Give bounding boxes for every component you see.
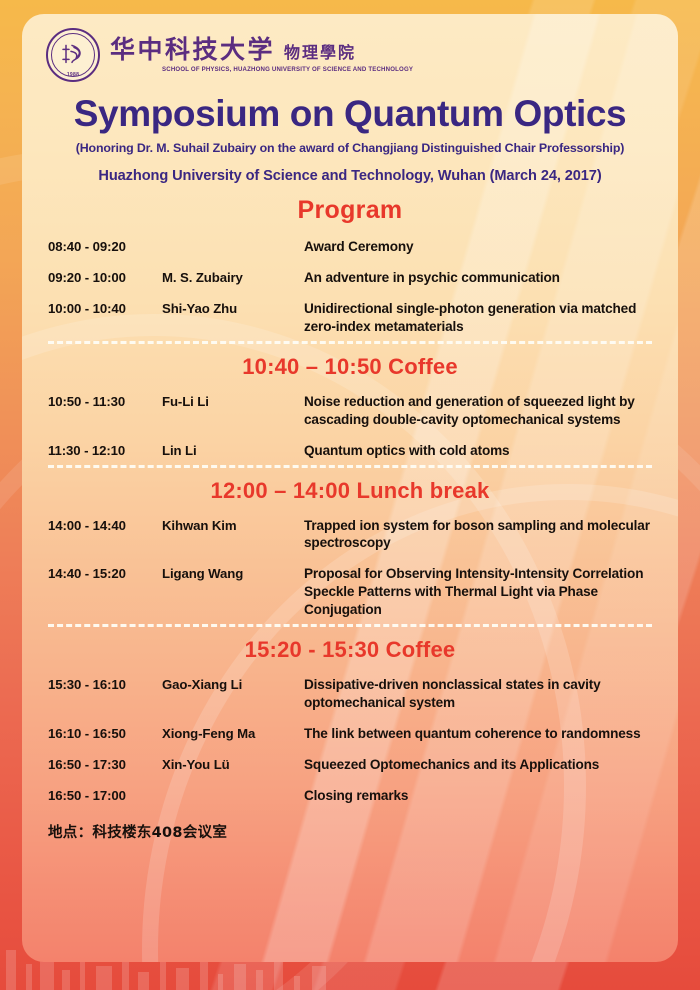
session-title: Noise reduction and generation of squeez… (304, 393, 662, 429)
school-name-cn: 物理學院 (284, 39, 356, 63)
session-title: Squeezed Optomechanics and its Applicati… (304, 756, 662, 774)
session-time: 16:50 - 17:30 (48, 756, 162, 772)
session-time: 11:30 - 12:10 (48, 442, 162, 458)
schedule-row: 10:50 - 11:30Fu-Li LiNoise reduction and… (22, 393, 678, 429)
poster-subtitle-honoring: (Honoring Dr. M. Suhail Zubairy on the a… (22, 141, 678, 155)
section-divider (48, 341, 652, 344)
session-speaker (162, 787, 304, 788)
session-time: 16:10 - 16:50 (48, 725, 162, 741)
session-time: 16:50 - 17:00 (48, 787, 162, 803)
session-title: An adventure in psychic communication (304, 269, 662, 287)
program-schedule: 08:40 - 09:20Award Ceremony09:20 - 10:00… (22, 238, 678, 805)
section-divider (48, 624, 652, 627)
session-time: 08:40 - 09:20 (48, 238, 162, 254)
session-title: The link between quantum coherence to ra… (304, 725, 662, 743)
session-speaker (162, 238, 304, 239)
break-heading: 15:20 - 15:30 Coffee (22, 637, 678, 663)
session-speaker: Lin Li (162, 442, 304, 458)
session-time: 14:40 - 15:20 (48, 565, 162, 581)
poster-venue-date-line: Huazhong University of Science and Techn… (22, 168, 678, 184)
session-speaker: Xiong-Feng Ma (162, 725, 304, 741)
university-seal-icon: 1988 (46, 28, 100, 82)
venue-location-label: 地点：科技楼东408会议室 (22, 821, 678, 842)
schedule-row: 08:40 - 09:20Award Ceremony (22, 238, 678, 256)
session-speaker: Gao-Xiang Li (162, 676, 304, 692)
schedule-row: 14:00 - 14:40Kihwan KimTrapped ion syste… (22, 517, 678, 553)
schedule-row: 11:30 - 12:10Lin LiQuantum optics with c… (22, 442, 678, 460)
program-heading: Program (22, 196, 678, 225)
seal-year-label: 1988 (46, 72, 100, 78)
poster-title: Symposium on Quantum Optics (22, 94, 678, 134)
session-time: 10:50 - 11:30 (48, 393, 162, 409)
session-title: Unidirectional single-photon generation … (304, 300, 662, 336)
schedule-row: 16:50 - 17:00Closing remarks (22, 787, 678, 805)
poster-content-panel: 1988 华中科技大学 物理學院 SCHOOL OF PHYSICS, HUAZ… (22, 14, 678, 962)
session-title: Dissipative-driven nonclassical states i… (304, 676, 662, 712)
session-time: 10:00 - 10:40 (48, 300, 162, 316)
schedule-row: 09:20 - 10:00M. S. ZubairyAn adventure i… (22, 269, 678, 287)
schedule-row: 14:40 - 15:20Ligang WangProposal for Obs… (22, 565, 678, 619)
session-title: Proposal for Observing Intensity-Intensi… (304, 565, 662, 619)
session-speaker: M. S. Zubairy (162, 269, 304, 285)
schedule-row: 10:00 - 10:40Shi-Yao ZhuUnidirectional s… (22, 300, 678, 336)
session-speaker: Fu-Li Li (162, 393, 304, 409)
institution-name-en: SCHOOL OF PHYSICS, HUAZHONG UNIVERSITY O… (162, 66, 413, 73)
session-speaker: Xin-You Lü (162, 756, 304, 772)
schedule-row: 15:30 - 16:10Gao-Xiang LiDissipative-dri… (22, 676, 678, 712)
session-time: 15:30 - 16:10 (48, 676, 162, 692)
institution-logo-row: 1988 华中科技大学 物理學院 SCHOOL OF PHYSICS, HUAZ… (22, 14, 678, 82)
session-title: Award Ceremony (304, 238, 662, 256)
session-speaker: Ligang Wang (162, 565, 304, 581)
session-title: Trapped ion system for boson sampling an… (304, 517, 662, 553)
schedule-row: 16:50 - 17:30Xin-You LüSqueezed Optomech… (22, 756, 678, 774)
session-title: Quantum optics with cold atoms (304, 442, 662, 460)
schedule-row: 16:10 - 16:50Xiong-Feng MaThe link betwe… (22, 725, 678, 743)
break-heading: 12:00 – 14:00 Lunch break (22, 478, 678, 504)
session-time: 09:20 - 10:00 (48, 269, 162, 285)
break-heading: 10:40 – 10:50 Coffee (22, 354, 678, 380)
section-divider (48, 465, 652, 468)
session-title: Closing remarks (304, 787, 662, 805)
session-speaker: Shi-Yao Zhu (162, 300, 304, 316)
session-speaker: Kihwan Kim (162, 517, 304, 533)
session-time: 14:00 - 14:40 (48, 517, 162, 533)
symposium-poster: 1988 华中科技大学 物理學院 SCHOOL OF PHYSICS, HUAZ… (0, 0, 700, 990)
university-name-cn: 华中科技大学 (110, 37, 275, 63)
